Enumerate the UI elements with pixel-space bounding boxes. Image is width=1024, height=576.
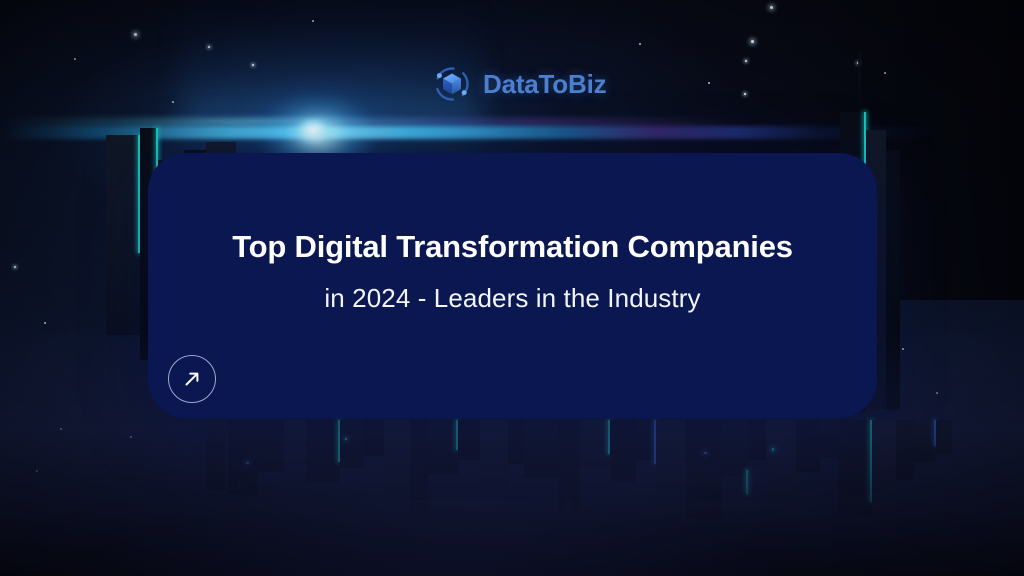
cube-orbit-icon	[430, 62, 474, 106]
page-subtitle: in 2024 - Leaders in the Industry	[148, 283, 877, 314]
brand-logo[interactable]: DataToBiz	[430, 62, 606, 106]
hero-banner: DataToBiz Top Digital Transformation Com…	[0, 0, 1024, 576]
arrow-up-right-icon	[180, 367, 204, 391]
cta-arrow-button[interactable]	[168, 355, 216, 403]
page-title: Top Digital Transformation Companies	[148, 229, 877, 265]
brand-name: DataToBiz	[483, 69, 606, 100]
hero-panel: Top Digital Transformation Companies in …	[148, 153, 877, 418]
